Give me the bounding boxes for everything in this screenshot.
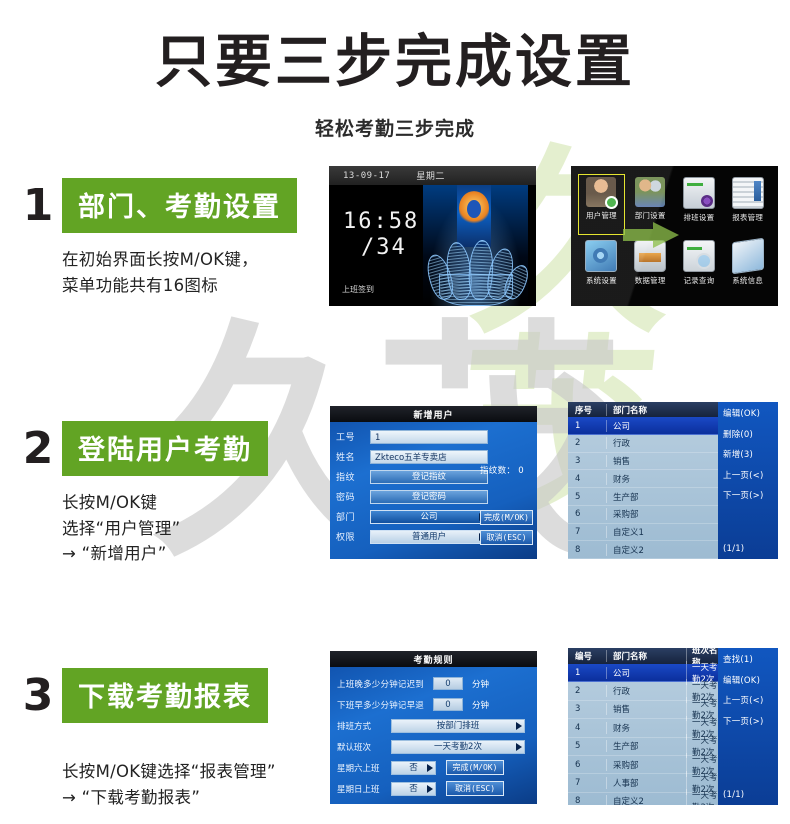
step-3-text-block: 3 下载考勤报表 长按M/OK键选择“报表管理” → “下载考勤报表” [14, 668, 314, 810]
default-shift-label: 默认班次 [337, 741, 391, 753]
cell-no: 7 [568, 527, 606, 537]
search-button[interactable]: 查找(1) [723, 653, 778, 665]
step-1-description: 在初始界面长按M/OK键， 菜单功能共有16图标 [62, 247, 314, 298]
prev-page-button[interactable]: 上一页(<) [723, 694, 778, 706]
cell-no: 3 [568, 456, 606, 466]
menu-item-record-query[interactable]: 记录查询 [675, 236, 724, 299]
cell-name: 自定义1 [606, 526, 718, 538]
menu-item-system-info[interactable]: 系统信息 [723, 236, 772, 299]
cell-no: 8 [568, 796, 606, 805]
page-header: 只要三步完成设置 轻松考勤三步完成 [0, 0, 790, 141]
add-button[interactable]: 新增(3) [723, 448, 778, 460]
cell-no: 7 [568, 778, 606, 788]
step-2-number: 2 [14, 427, 62, 471]
cell-shift: 一天考勤2次 [686, 789, 718, 805]
cell-name: 生产部 [606, 491, 718, 503]
rule-row-default-shift: 默认班次 一天考勤2次 [337, 737, 531, 756]
table-row[interactable]: 1 公司 [568, 417, 718, 435]
cell-department: 人事部 [606, 777, 686, 789]
column-header-name: 部门名称 [606, 404, 718, 416]
info-icon [732, 238, 764, 274]
menu-label: 用户管理 [586, 210, 617, 221]
cell-department: 行政 [606, 685, 686, 697]
users-icon [635, 177, 665, 207]
late-label: 上班晚多少分钟记迟到 [337, 678, 433, 690]
cell-no: 4 [568, 474, 606, 484]
step-1-text-block: 1 部门、考勤设置 在初始界面长按M/OK键， 菜单功能共有16图标 [14, 178, 314, 298]
chevron-right-icon [516, 722, 522, 730]
device-clock-screen: 13-09-17 星期二 16:58 /34 上班签到 [329, 166, 536, 306]
hand-scan-graphic [423, 185, 528, 306]
table-row[interactable]: 8 自定义2 一天考勤2次 [568, 793, 718, 805]
menu-item-shift-setting[interactable]: 排班设置 [675, 173, 724, 236]
cell-department: 财务 [606, 722, 686, 734]
field-label: 密码 [336, 490, 370, 503]
name-input[interactable]: Zkteco五羊专卖店 [370, 450, 488, 464]
system-settings-icon [585, 240, 617, 272]
menu-item-system-setting[interactable]: 系统设置 [577, 236, 626, 299]
sunday-value: 否 [409, 784, 418, 794]
scan-crest [459, 191, 489, 225]
menu-item-data-management[interactable]: 数据管理 [626, 236, 675, 299]
shift-mode-label: 排班方式 [337, 720, 391, 732]
cell-no: 2 [568, 686, 606, 696]
step-2-description: 长按M/OK键 选择“用户管理” → “新增用户” [62, 490, 314, 567]
saturday-label: 星期六上班 [337, 762, 391, 774]
cell-department: 生产部 [606, 740, 686, 752]
cell-no: 1 [568, 668, 606, 678]
menu-item-report-management[interactable]: 报表管理 [723, 173, 772, 236]
cell-no: 8 [568, 545, 606, 555]
saturday-select[interactable]: 否 [391, 761, 436, 775]
rules-dialog-title: 考勤规则 [330, 651, 537, 667]
clock-weekday: 星期二 [416, 169, 445, 182]
late-minutes-input[interactable]: 0 [433, 677, 463, 690]
edit-button[interactable]: 编辑(OK) [723, 674, 778, 686]
clock-status-bar: 13-09-17 星期二 [329, 166, 536, 185]
table-row[interactable]: 3 销售 [568, 453, 718, 471]
field-row-employee-id: 工号 1 [336, 428, 531, 445]
user-add-icon [586, 177, 616, 207]
table-row[interactable]: 6 采购部 [568, 506, 718, 524]
step-2-header-row: 2 登陆用户考勤 [14, 421, 314, 476]
report-icon [732, 177, 764, 209]
table-row[interactable]: 5 生产部 [568, 488, 718, 506]
employee-id-input[interactable]: 1 [370, 430, 488, 444]
clock-date: 13-09-17 [343, 171, 390, 181]
menu-item-user-management[interactable]: 用户管理 [577, 173, 626, 236]
column-header-no: 序号 [568, 404, 606, 416]
early-minutes-input[interactable]: 0 [433, 698, 463, 711]
menu-label: 报表管理 [732, 212, 763, 223]
cell-name: 采购部 [606, 508, 718, 520]
schedule-icon [683, 177, 715, 209]
cancel-button[interactable]: 取消(ESC) [446, 781, 504, 796]
chevron-right-icon [427, 785, 433, 793]
step-3-header-row: 3 下载考勤报表 [14, 668, 314, 723]
field-label: 部门 [336, 510, 370, 523]
cell-name: 财务 [606, 473, 718, 485]
shift-list-actions: 查找(1) 编辑(OK) 上一页(<) 下一页(>) (1/1) [718, 648, 778, 805]
new-user-dialog-title: 新增用户 [330, 406, 537, 422]
menu-label: 系统设置 [586, 275, 617, 286]
enroll-password-button[interactable]: 登记密码 [370, 490, 488, 504]
rules-dialog-body: 上班晚多少分钟记迟到 0 分钟 下班早多少分钟记早退 0 分钟 排班方式 按部门… [330, 667, 537, 798]
page-title: 只要三步完成设置 [0, 16, 790, 98]
privilege-select-value: 普通用户 [412, 532, 446, 542]
cell-department: 公司 [606, 667, 686, 679]
field-label: 权限 [336, 530, 370, 543]
early-label: 下班早多少分钟记早退 [337, 699, 433, 711]
field-row-name: 姓名 Zkteco五羊专卖店 [336, 448, 531, 465]
rule-row-late: 上班晚多少分钟记迟到 0 分钟 [337, 674, 531, 693]
clock-body: 16:58 /34 上班签到 [329, 185, 536, 306]
shift-mode-select[interactable]: 按部门排班 [391, 719, 525, 733]
department-select[interactable]: 公司 [370, 510, 488, 524]
menu-label: 部门设置 [635, 210, 666, 221]
department-list-actions: 编辑(OK) 删除(0) 新增(3) 上一页(<) 下一页(>) (1/1) [718, 402, 778, 559]
cell-no: 5 [568, 492, 606, 502]
department-list: 序号 部门名称 1 公司 2 行政 3 销售 4 财务 5 生产部 [568, 402, 778, 559]
page-indicator: (1/1) [723, 790, 744, 800]
step-1-header-row: 1 部门、考勤设置 [14, 178, 314, 233]
search-record-icon [683, 240, 715, 272]
rule-row-shift-mode: 排班方式 按部门排班 [337, 716, 531, 735]
menu-label: 系统信息 [732, 275, 763, 286]
step-1-banner: 部门、考勤设置 [62, 178, 297, 233]
cell-no: 2 [568, 438, 606, 448]
page-subtitle: 轻松考勤三步完成 [0, 114, 790, 141]
prev-page-button[interactable]: 上一页(<) [723, 469, 778, 481]
chevron-right-icon [427, 764, 433, 772]
cell-department: 销售 [606, 703, 686, 715]
cell-no: 6 [568, 760, 606, 770]
department-list-table: 序号 部门名称 1 公司 2 行政 3 销售 4 财务 5 生产部 [568, 402, 718, 559]
table-row[interactable]: 4 财务 [568, 470, 718, 488]
next-page-button[interactable]: 下一页(>) [723, 489, 778, 501]
field-label: 指纹 [336, 470, 370, 483]
step-1-number: 1 [14, 184, 62, 228]
menu-icon-grid: 用户管理 部门设置 排班设置 报表管理 系统设置 数据管理 记录查询 系统信息 [571, 166, 778, 306]
clock-time: 16:58 [343, 209, 419, 234]
step-3-banner: 下载考勤报表 [62, 668, 268, 723]
new-user-dialog: 新增用户 工号 1 姓名 Zkteco五羊专卖店 指纹 登记指纹 密码 登记密码… [330, 406, 537, 559]
delete-button[interactable]: 删除(0) [723, 428, 778, 440]
cell-no: 5 [568, 741, 606, 751]
database-icon [634, 240, 666, 272]
late-unit: 分钟 [472, 678, 489, 690]
table-row[interactable]: 2 行政 [568, 435, 718, 453]
cell-department: 自定义2 [606, 795, 686, 805]
field-label: 工号 [336, 430, 370, 443]
clock-seconds: /34 [361, 235, 407, 260]
cell-no: 4 [568, 723, 606, 733]
shift-list-screen: 编号 部门名称 班次名称 1 公司 一天考勤2次 2 行政 一天考勤2次 3 销… [568, 648, 778, 805]
new-user-dialog-buttons: 完成(M/OK) 取消(ESC) [480, 510, 533, 550]
shift-list: 编号 部门名称 班次名称 1 公司 一天考勤2次 2 行政 一天考勤2次 3 销… [568, 648, 778, 805]
sunday-label: 星期日上班 [337, 783, 391, 795]
shift-mode-value: 按部门排班 [437, 721, 480, 731]
attendance-rules-dialog: 考勤规则 上班晚多少分钟记迟到 0 分钟 下班早多少分钟记早退 0 分钟 排班方… [330, 651, 537, 804]
chevron-right-icon [516, 743, 522, 751]
cell-name: 销售 [606, 455, 718, 467]
clock-punch-status: 上班签到 [342, 284, 374, 295]
cancel-button[interactable]: 取消(ESC) [480, 530, 533, 545]
cell-name: 公司 [606, 420, 718, 432]
cell-no: 1 [568, 421, 606, 431]
confirm-button[interactable]: 完成(M/OK) [480, 510, 533, 525]
table-header: 序号 部门名称 [568, 402, 718, 417]
sunday-select[interactable]: 否 [391, 782, 436, 796]
step-2-text-block: 2 登陆用户考勤 长按M/OK键 选择“用户管理” → “新增用户” [14, 421, 314, 567]
menu-label: 排班设置 [683, 212, 714, 223]
field-label: 姓名 [336, 450, 370, 463]
table-row[interactable]: 8 自定义2 [568, 541, 718, 559]
edit-button[interactable]: 编辑(OK) [723, 407, 778, 419]
table-row[interactable]: 7 自定义1 [568, 524, 718, 542]
next-page-button[interactable]: 下一页(>) [723, 715, 778, 727]
fingerprint-count-label: 指纹数： 0 [480, 464, 524, 476]
privilege-select[interactable]: 普通用户 [370, 530, 488, 544]
shift-list-table: 编号 部门名称 班次名称 1 公司 一天考勤2次 2 行政 一天考勤2次 3 销… [568, 648, 718, 805]
cell-name: 行政 [606, 437, 718, 449]
field-row-password: 密码 登记密码 [336, 488, 531, 505]
confirm-button[interactable]: 完成(M/OK) [446, 760, 504, 775]
rule-row-sunday: 星期日上班 否 取消(ESC) [337, 779, 531, 798]
device-menu-screen: 用户管理 部门设置 排班设置 报表管理 系统设置 数据管理 记录查询 系统信息 [571, 166, 778, 306]
rule-row-early: 下班早多少分钟记早退 0 分钟 [337, 695, 531, 714]
enroll-fingerprint-button[interactable]: 登记指纹 [370, 470, 488, 484]
default-shift-select[interactable]: 一天考勤2次 [391, 740, 525, 754]
department-list-screen: 序号 部门名称 1 公司 2 行政 3 销售 4 财务 5 生产部 [568, 402, 778, 559]
cell-name: 自定义2 [606, 544, 718, 556]
saturday-value: 否 [409, 763, 418, 773]
column-header-no: 编号 [568, 650, 606, 662]
menu-item-department-setting[interactable]: 部门设置 [626, 173, 675, 236]
page-indicator: (1/1) [723, 544, 744, 554]
menu-label: 记录查询 [683, 275, 714, 286]
step-2-banner: 登陆用户考勤 [62, 421, 268, 476]
cell-no: 3 [568, 704, 606, 714]
new-user-dialog-body: 工号 1 姓名 Zkteco五羊专卖店 指纹 登记指纹 密码 登记密码 部门 公… [330, 422, 537, 545]
column-header-department: 部门名称 [606, 650, 686, 662]
step-3-description: 长按M/OK键选择“报表管理” → “下载考勤报表” [62, 759, 314, 810]
cell-department: 采购部 [606, 759, 686, 771]
menu-label: 数据管理 [635, 275, 666, 286]
default-shift-value: 一天考勤2次 [434, 742, 482, 752]
rule-row-saturday: 星期六上班 否 完成(M/OK) [337, 758, 531, 777]
cell-no: 6 [568, 509, 606, 519]
early-unit: 分钟 [472, 699, 489, 711]
department-select-value: 公司 [420, 512, 437, 522]
step-3-number: 3 [14, 674, 62, 718]
